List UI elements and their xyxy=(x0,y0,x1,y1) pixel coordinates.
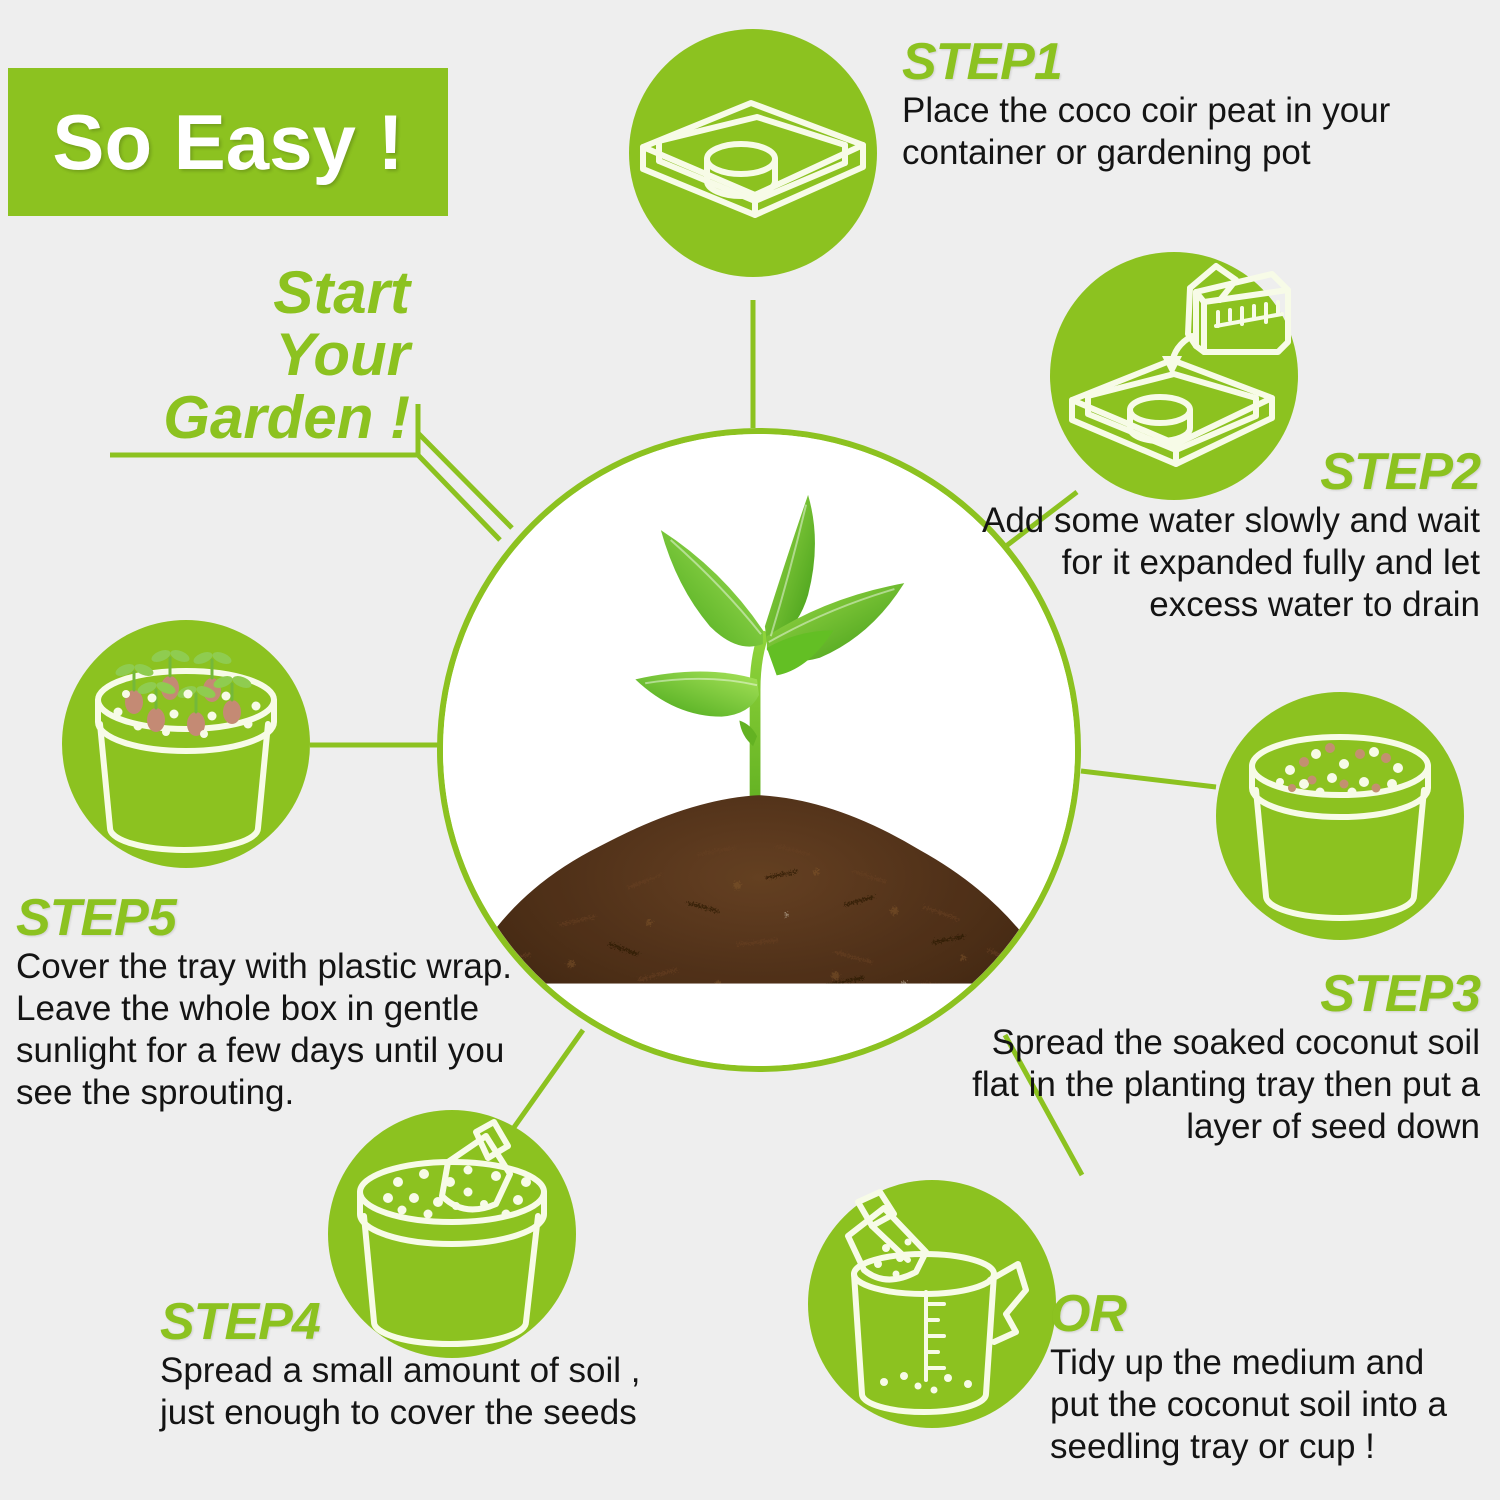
step4-body: Spread a small amount of soil , just eno… xyxy=(160,1350,680,1434)
step5-label: STEP5 xyxy=(16,892,516,944)
pot-with-seeds-icon xyxy=(1216,692,1464,940)
step5-body: Cover the tray with plastic wrap. Leave … xyxy=(16,946,516,1114)
step1-label: STEP1 xyxy=(902,36,1402,88)
tagline-line-1: Start xyxy=(60,262,410,324)
step2-label: STEP2 xyxy=(960,446,1480,498)
step3-text: STEP3 Spread the soaked coconut soil fla… xyxy=(960,968,1480,1148)
so-easy-banner: So Easy ! xyxy=(8,68,448,216)
or-text: OR Tidy up the medium and put the coconu… xyxy=(1050,1288,1470,1468)
tagline-line-3: Garden ! xyxy=(60,387,410,449)
step3-label: STEP3 xyxy=(960,968,1480,1020)
infographic-canvas: So Easy ! Start Your Garden ! xyxy=(0,0,1500,1500)
tagline-line-2: Your xyxy=(60,324,410,386)
connector-tagline xyxy=(110,455,500,540)
connector-step3 xyxy=(1081,771,1216,787)
step4-label: STEP4 xyxy=(160,1296,680,1348)
step4-text: STEP4 Spread a small amount of soil , ju… xyxy=(160,1296,680,1434)
start-your-garden-tagline: Start Your Garden ! xyxy=(60,262,410,449)
pot-with-sprouting-seedlings-icon xyxy=(62,620,310,868)
step2-text: STEP2 Add some water slowly and wait for… xyxy=(960,446,1480,626)
step5-icon-circle xyxy=(62,620,310,868)
banner-title: So Easy ! xyxy=(52,103,403,181)
measuring-cup-with-trowel-icon xyxy=(808,1180,1056,1428)
step5-text: STEP5 Cover the tray with plastic wrap. … xyxy=(16,892,516,1114)
or-icon-circle xyxy=(808,1180,1056,1428)
step3-icon-circle xyxy=(1216,692,1464,940)
or-body: Tidy up the medium and put the coconut s… xyxy=(1050,1342,1470,1468)
step1-text: STEP1 Place the coco coir peat in your c… xyxy=(902,36,1402,174)
or-label: OR xyxy=(1050,1288,1470,1340)
tray-with-coir-puck-icon xyxy=(629,29,877,277)
step3-body: Spread the soaked coconut soil flat in t… xyxy=(960,1022,1480,1148)
step1-body: Place the coco coir peat in your contain… xyxy=(902,90,1402,174)
step2-body: Add some water slowly and wait for it ex… xyxy=(960,500,1480,626)
step1-icon-circle xyxy=(629,29,877,277)
